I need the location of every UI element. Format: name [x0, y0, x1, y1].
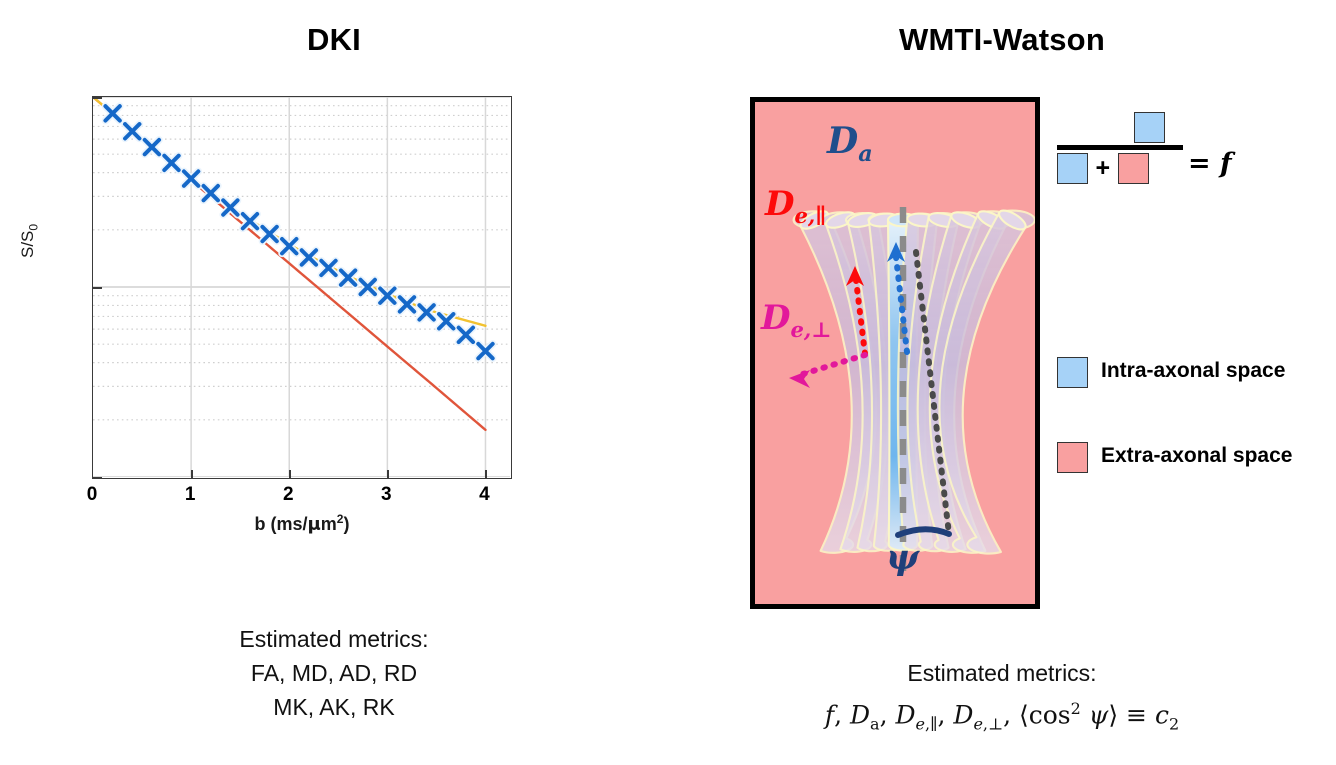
y-axis-label: S/S0 — [18, 224, 40, 258]
x-tick-mark — [387, 470, 389, 478]
x-tick-label: 4 — [479, 484, 490, 506]
fraction-equals-f: = f — [1188, 148, 1232, 179]
legend-item-extra-axonal: Extra-axonal space — [1057, 442, 1307, 473]
dki-chart — [92, 96, 512, 479]
legend-item-intra-axonal: Intra-axonal space — [1057, 357, 1307, 388]
label-psi: ψ — [886, 537, 919, 578]
dki-caption-line1: Estimated metrics: — [0, 622, 668, 656]
extra-axonal-swatch — [1057, 442, 1088, 473]
wmti-caption-line1: Estimated metrics: — [668, 655, 1336, 691]
volume-fraction-formula: + = f — [1057, 112, 1237, 184]
dki-caption-line2: FA, MD, AD, RD — [0, 656, 668, 690]
page-title-wmti: WMTI-Watson — [668, 22, 1336, 58]
wmti-caption: Estimated metrics: f, Da, De,∥, De,⊥, ⟨c… — [668, 655, 1336, 742]
intra-axonal-swatch-numerator — [1134, 112, 1165, 143]
label-d-e-parallel: De,∥ — [765, 184, 826, 228]
panel-dki: DKI S/S0 b (ms/μm2) Estimated metrics: F… — [0, 0, 668, 765]
dki-caption-line3: MK, AK, RK — [0, 690, 668, 724]
axon-bundle-illustration — [755, 102, 1035, 604]
y-tick-mark — [93, 97, 102, 99]
x-tick-mark — [485, 470, 487, 478]
x-tick-label: 2 — [283, 484, 294, 506]
y-tick-mark — [93, 287, 102, 289]
label-d-a: Da — [827, 120, 873, 167]
x-tick-label: 0 — [87, 484, 98, 506]
legend-label-extra-axonal: Extra-axonal space — [1101, 442, 1292, 469]
wmti-diagram: Da De,∥ De,⊥ ψ — [750, 97, 1040, 609]
extra-axonal-swatch-denominator — [1118, 153, 1149, 184]
intra-axonal-swatch-denominator — [1057, 153, 1088, 184]
dki-caption: Estimated metrics: FA, MD, AD, RD MK, AK… — [0, 622, 668, 724]
fraction-numerator — [1057, 112, 1237, 143]
x-tick-label: 3 — [381, 484, 392, 506]
x-tick-label: 1 — [185, 484, 196, 506]
fraction-denominator: + — [1057, 153, 1183, 184]
fraction-bar — [1057, 145, 1183, 150]
page-title-dki: DKI — [0, 22, 668, 58]
plus-sign: + — [1092, 154, 1113, 182]
panel-wmti: WMTI-Watson Da De,∥ De,⊥ ψ + — [668, 0, 1336, 765]
x-tick-mark — [289, 470, 291, 478]
legend-label-intra-axonal: Intra-axonal space — [1101, 357, 1285, 384]
intra-axonal-swatch — [1057, 357, 1088, 388]
plot-area — [92, 96, 512, 479]
dki-plot-svg — [93, 97, 510, 477]
wmti-metrics-formula: f, Da, De,∥, De,⊥, ⟨cos2 ψ⟩ ≡ c2 — [668, 691, 1336, 742]
label-d-e-perpendicular: De,⊥ — [761, 298, 831, 342]
x-tick-mark — [191, 470, 193, 478]
y-tick-mark — [93, 477, 102, 479]
x-axis-label: b (ms/μm2) — [92, 512, 512, 535]
